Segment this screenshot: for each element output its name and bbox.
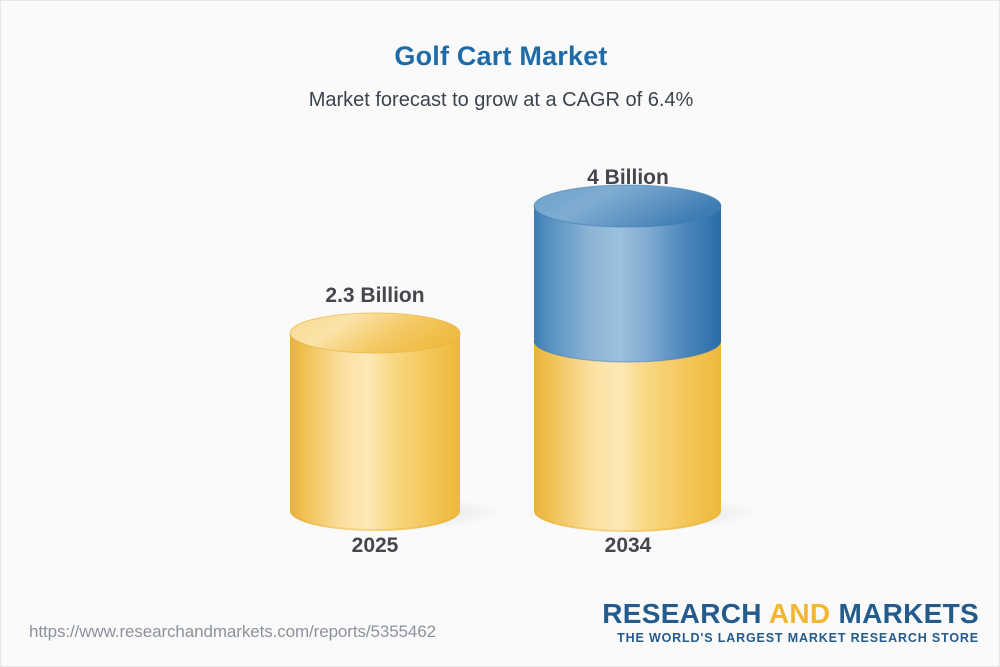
logo-wordmark: RESEARCH AND MARKETS [602,599,979,628]
bar-chart-plot [1,1,1000,667]
source-url[interactable]: https://www.researchandmarkets.com/repor… [29,622,436,642]
logo-research-text: RESEARCH [602,598,769,629]
logo-markets-text: MARKETS [830,598,979,629]
bar-2034-body-yellow [534,341,721,532]
bar-2025[interactable] [290,313,460,531]
bar-2025-body [290,333,460,531]
value-label-2025: 2.3 Billion [275,284,475,308]
logo-and-text: AND [769,598,831,629]
bar-2034[interactable] [534,185,721,532]
research-and-markets-logo[interactable]: RESEARCH AND MARKETS THE WORLD'S LARGEST… [602,599,979,645]
bar-2034-body-blue [534,206,721,362]
value-label-2034: 4 Billion [528,166,728,190]
chart-canvas: Golf Cart Market Market forecast to grow… [0,0,1000,667]
logo-tagline: THE WORLD'S LARGEST MARKET RESEARCH STOR… [602,631,979,645]
category-label-2034: 2034 [528,534,728,558]
category-label-2025: 2025 [275,534,475,558]
